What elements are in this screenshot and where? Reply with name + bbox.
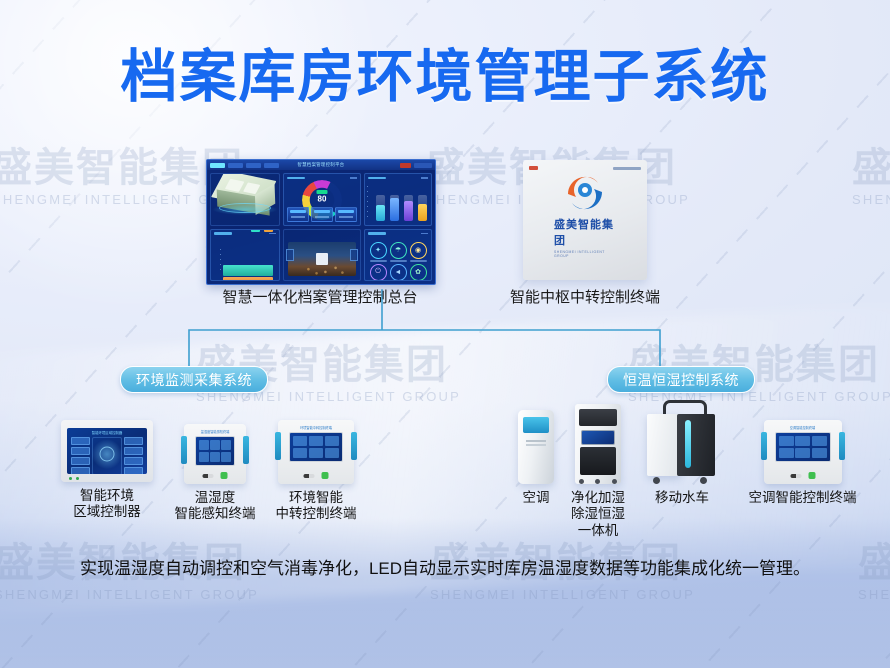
shortcut-item[interactable]: ☂ [389,242,407,262]
device-mobile-water-cart[interactable]: 移动水车 [640,400,724,506]
panel-screen [195,436,235,466]
video-feed[interactable] [288,242,356,277]
cart-image [645,400,719,484]
panel-display: 环境智能中转控制终端 [278,420,354,484]
panel-indicators [69,477,79,480]
dashboard-video-card[interactable] [283,229,361,282]
panel-screen-grid [199,440,231,462]
hub-indicator [529,166,538,170]
device-air-conditioner[interactable]: 空调 [505,410,567,506]
dashboard-title: 智慧档案管理控制平台 [207,162,435,168]
panel-screen-grid [293,436,339,458]
dashboard-gauge-card: 80 [283,173,361,226]
device-label: 移动水车 [655,490,709,506]
gauge-button[interactable] [287,207,309,222]
shortcut-label [410,260,427,262]
dashboard-bar-chart-card [364,173,432,226]
panel-screen-grid [779,436,827,458]
power-switch[interactable] [304,474,315,478]
alert-icon: ◉ [410,242,427,259]
logo-text-cn: 盛美智能集团 [554,216,616,248]
shortcut-label [370,260,387,262]
trend-chart [215,243,275,277]
gauge-chip [317,190,328,194]
purifier-head [579,409,617,426]
panel-screen-title: 空调智能控制终端 [764,425,842,430]
power-switch[interactable] [203,474,214,478]
logo-text-en: SHENGMEI INTELLIGENT GROUP [554,250,616,258]
panel-display: 空调智能控制终端 [764,420,842,484]
panel-display: 温湿度智能感知终端 [184,424,246,484]
video-next-arrow[interactable] [350,249,358,261]
purifier-body [580,447,616,475]
bar [390,195,399,221]
hub-label-strip [613,167,641,170]
panel-wing [761,432,767,460]
dashboard-3d-model-card [210,173,280,226]
purifier-image [575,404,621,484]
status-indicator [808,472,815,479]
device-label: 温湿度 智能感知终端 [175,490,256,523]
panel-wing [181,436,187,464]
device-environment-controller[interactable]: 智能环境区域控制器 智能环境 区域控制器 [52,420,162,521]
bar-group [370,185,427,221]
ac-vent [523,417,549,433]
panel-screen-title: 智能环境区域控制器 [67,430,147,435]
panel-wing [839,432,845,460]
speaker-icon: ◄ [390,264,407,281]
shortcut-grid: ✦ ☂ ◉ ⏻ ◄ [369,242,427,278]
device-label: 空调智能控制终端 [749,490,857,506]
snapshot-icon [316,253,328,265]
device-label: 空调 [523,490,550,506]
settings-icon: ✿ [410,264,427,281]
trend-band [223,277,273,282]
panel-wing [275,432,281,460]
hub-device-image: 盛美智能集团 SHENGMEI INTELLIGENT GROUP [523,160,647,280]
console-caption: 智慧一体化档案管理控制总台 [206,286,434,307]
page-title: 档案库房环境管理子系统 [0,48,890,108]
panel-controls[interactable] [203,472,228,479]
slide-canvas: 盛美智能集团 SHENGMEI INTELLIGENT GROUP 盛美智能集团… [0,0,890,668]
footer-description: 实现温湿度自动调控和空气消毒净化，LED自动显示实时库房温湿度数据等功能集成化统… [60,556,830,582]
trend-band [223,265,273,276]
humidity-icon: ☂ [390,242,407,259]
hub-caption: 智能中枢中转控制终端 [500,286,670,307]
group-tag-monitoring[interactable]: 环境监测采集系统 [120,366,268,393]
power-switch[interactable] [790,474,801,478]
power-icon: ⏻ [370,264,387,281]
device-temp-humidity-sensor[interactable]: 温湿度智能感知终端 温湿度 智能感知终端 [168,424,262,523]
group-tag-climate[interactable]: 恒温恒湿控制系统 [607,366,755,393]
console-dashboard-screen[interactable]: 智慧档案管理控制平台 80 [206,159,436,285]
device-label: 环境智能 中转控制终端 [276,490,357,523]
status-indicator [221,472,228,479]
dashboard-shortcut-card: ✦ ☂ ◉ ⏻ ◄ [364,229,432,282]
ac-unit-image [518,410,554,484]
gauge-value: 80 [318,195,327,204]
model-glow [212,204,278,215]
panel-controls[interactable] [304,472,329,479]
gauge-button[interactable] [335,207,357,222]
shortcut-label [390,260,407,262]
trend-legend [251,229,273,232]
video-prev-arrow[interactable] [286,249,294,261]
shortcut-item[interactable]: ◉ [409,242,427,262]
panel-screen [289,432,343,462]
cart-body-right [677,414,715,476]
hub-top-strip [529,164,641,172]
panel-screen-grid [71,437,143,469]
logo-mark-icon [564,172,606,212]
device-ac-control-terminal[interactable]: 空调智能控制终端 空调智能控制终端 [745,420,860,506]
panel-screen-title: 温湿度智能感知终端 [184,429,246,434]
panel-wing [351,432,357,460]
device-label: 智能环境 区域控制器 [73,488,141,521]
bar [404,195,413,221]
uv-lamp-tube [685,420,691,468]
shortcut-item[interactable]: ⏻ [369,264,387,282]
status-indicator [322,472,329,479]
bar-axis [367,186,368,221]
panel-wing [243,436,249,464]
trend-axis [220,249,221,275]
air-icon: ✦ [370,242,387,259]
dashboard-body: 80 [207,170,435,284]
dashboard-trend-card [210,229,280,282]
shortcut-item[interactable]: ✦ [369,242,387,262]
panel-display: 智能环境区域控制器 [61,420,153,482]
dashboard-header: 智慧档案管理控制平台 [207,160,435,170]
bar [376,195,385,221]
panel-screen [775,432,831,462]
gauge-buttons [287,207,357,222]
panel-screen: 智能环境区域控制器 [67,428,147,474]
cart-body-left [647,414,681,476]
device-purifier-humidifier[interactable]: 净化加湿 除湿恒湿 一体机 [560,404,636,539]
shortcut-item[interactable]: ✿ [409,264,427,282]
shortcut-item[interactable]: ◄ [389,264,407,282]
device-label: 净化加湿 除湿恒湿 一体机 [571,490,625,539]
panel-controls[interactable] [790,472,815,479]
device-environment-relay[interactable]: 环境智能中转控制终端 环境智能 中转控制终端 [262,420,370,523]
gauge-button[interactable] [311,207,333,222]
panel-screen-title: 环境智能中转控制终端 [278,425,354,430]
purifier-screen [581,430,615,445]
company-logo: 盛美智能集团 SHENGMEI INTELLIGENT GROUP [554,172,616,258]
bar [418,195,427,221]
